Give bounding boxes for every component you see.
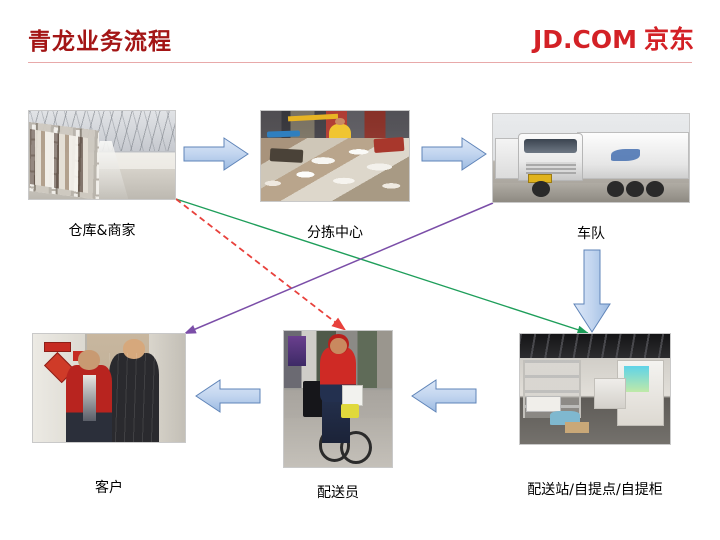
page-title: 青龙业务流程 <box>28 22 172 56</box>
node-label-fleet: 车队 <box>577 223 605 243</box>
connector-warehouse-to-station <box>176 199 588 333</box>
customer-at-door-photo <box>32 333 186 443</box>
arrow-sorting-to-fleet <box>420 136 488 172</box>
arrow-courier-to-customer <box>194 378 262 414</box>
truck-fleet-photo <box>492 113 690 203</box>
node-courier[interactable]: 配送员 <box>283 330 393 468</box>
node-sorting[interactable]: 分拣中心 <box>260 110 410 202</box>
header-divider <box>28 62 692 63</box>
deliveryman-on-bike-photo <box>283 330 393 468</box>
jd-brand-logo: JD.COM京东 <box>533 20 694 56</box>
delivery-station-photo <box>519 333 671 445</box>
brand-cn-text: 京东 <box>644 25 694 54</box>
node-fleet[interactable]: 车队 <box>492 113 690 203</box>
node-label-sorting: 分拣中心 <box>307 222 363 242</box>
node-label-warehouse: 仓库&商家 <box>69 220 136 240</box>
warehouse-aisle-photo <box>28 110 176 200</box>
node-label-courier: 配送员 <box>317 482 359 502</box>
node-warehouse[interactable]: 仓库&商家 <box>28 110 176 200</box>
node-label-station: 配送站/自提点/自提柜 <box>527 479 662 499</box>
node-station[interactable]: 配送站/自提点/自提柜 <box>519 333 671 445</box>
node-customer[interactable]: 客户 <box>32 333 186 443</box>
arrow-warehouse-to-sorting <box>182 136 250 172</box>
node-label-customer: 客户 <box>95 477 123 497</box>
brand-latin-text: JD.COM <box>533 25 637 54</box>
connector-warehouse-to-courier <box>176 199 344 329</box>
sorting-center-photo <box>260 110 410 202</box>
arrow-station-to-courier <box>410 378 478 414</box>
arrow-fleet-to-station <box>572 248 612 334</box>
